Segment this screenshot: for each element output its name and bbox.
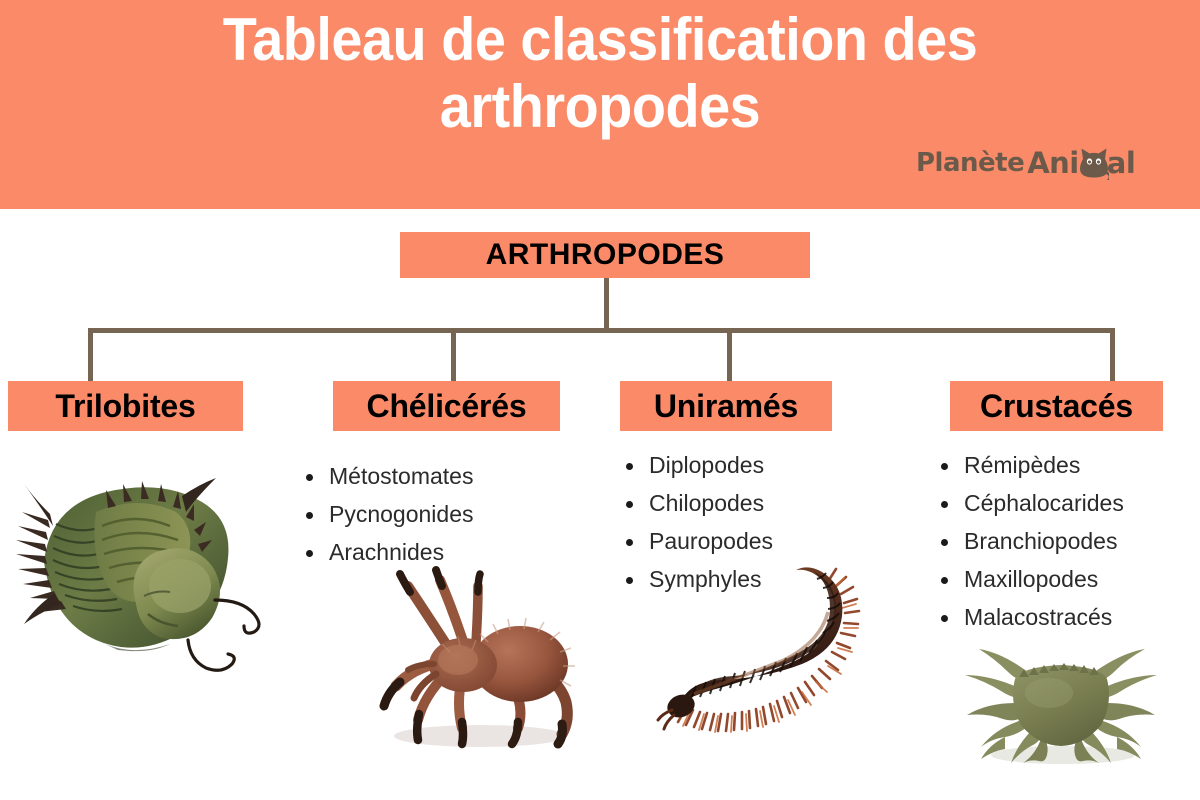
list-item-label: Branchiopodes <box>964 528 1117 554</box>
millipede-caption: Uniramés <box>920 554 921 555</box>
trilobite-photo: Trilobites <box>10 454 285 674</box>
crab-illustration: Crustacés <box>945 629 1175 779</box>
list-item: Diplopodes <box>620 446 773 484</box>
node-unirames: Uniramés <box>620 381 832 431</box>
node-arthropodes: ARTHROPODES <box>400 232 810 278</box>
header-banner: Tableau de classification des arthropode… <box>0 0 1200 209</box>
list-item-label: Rémipèdes <box>964 452 1080 478</box>
list-item: Rémipèdes <box>935 446 1124 484</box>
list-item: Branchiopodes <box>935 522 1124 560</box>
connector-branch-crustaces <box>1110 328 1115 383</box>
list-item: Métostomates <box>300 457 474 495</box>
list-item-label: Chilopodes <box>649 490 764 516</box>
list-item-label: Céphalocarides <box>964 490 1124 516</box>
millipede-photo: Uniramés <box>650 554 920 764</box>
connector-branch-trilobites <box>88 328 93 383</box>
list-item: Pycnogonides <box>300 495 474 533</box>
crab-caption: Crustacés <box>1175 629 1176 630</box>
node-crustaces-label: Crustacés <box>980 388 1133 425</box>
list-item-label: Pauropodes <box>649 528 773 554</box>
list-item-label: Malacostracés <box>964 604 1112 630</box>
logo-text-al: al <box>1107 146 1136 180</box>
infographic-root: Tableau de classification des arthropode… <box>0 0 1200 800</box>
node-cheliceres: Chélicérés <box>333 381 560 431</box>
node-unirames-label: Uniramés <box>654 388 798 425</box>
node-crustaces: Crustacés <box>950 381 1163 431</box>
list-item: Chilopodes <box>620 484 773 522</box>
list-item: Maxillopodes <box>935 560 1124 598</box>
list-crustaces: Rémipèdes Céphalocarides Branchiopodes M… <box>935 446 1124 636</box>
list-item-label: Métostomates <box>329 463 473 489</box>
connector-root-vertical <box>604 278 609 332</box>
node-cheliceres-label: Chélicérés <box>367 388 527 425</box>
list-item-label: Diplopodes <box>649 452 764 478</box>
connector-branch-cheliceres <box>451 328 456 383</box>
connector-horizontal-bus <box>88 328 1115 333</box>
list-item-label: Pycnogonides <box>329 501 474 527</box>
list-item-label: Arachnides <box>329 539 444 565</box>
cat-icon <box>1079 146 1109 180</box>
node-trilobites-label: Trilobites <box>55 388 195 425</box>
page-title: Tableau de classification des arthropode… <box>98 6 1102 140</box>
tarantula-photo: Chélicérés <box>330 564 610 764</box>
list-item: Céphalocarides <box>935 484 1124 522</box>
logo-text-planete: Planète <box>916 148 1024 178</box>
brand-logo: Planète Ani al <box>916 140 1135 186</box>
logo-text-ani: Ani <box>1027 146 1079 180</box>
list-item-label: Maxillopodes <box>964 566 1098 592</box>
list-cheliceres: Métostomates Pycnogonides Arachnides <box>300 457 474 571</box>
node-arthropodes-label: ARTHROPODES <box>486 238 725 272</box>
classification-tree: ARTHROPODES Trilobites Chélicérés Uniram… <box>0 209 1200 800</box>
trilobite-caption: Trilobites <box>285 454 286 455</box>
node-trilobites: Trilobites <box>8 381 243 431</box>
spider-caption: Chélicérés <box>610 564 611 565</box>
connector-branch-unirames <box>727 328 732 383</box>
